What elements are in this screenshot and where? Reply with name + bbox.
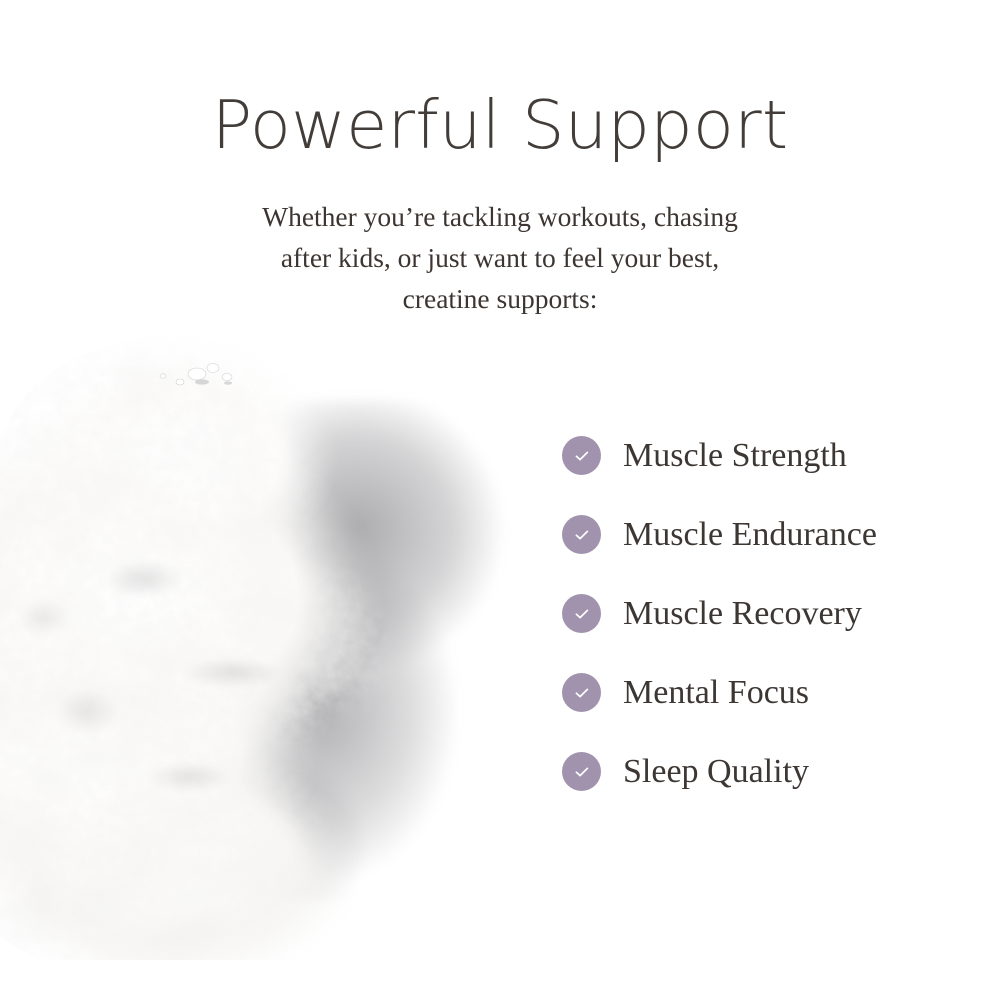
promo-graphic: Powerful Support Whether you’re tackling… [0, 0, 1000, 1000]
subtitle-line-3: creatine supports: [0, 278, 1000, 319]
subtitle-line-1: Whether you’re tackling workouts, chasin… [0, 196, 1000, 237]
benefit-label: Mental Focus [623, 676, 809, 710]
benefit-label: Muscle Strength [623, 439, 847, 473]
benefit-label: Muscle Endurance [623, 518, 877, 552]
benefit-label: Muscle Recovery [623, 597, 862, 631]
check-icon [562, 594, 601, 633]
benefit-item-muscle-recovery: Muscle Recovery [562, 594, 877, 633]
benefit-label: Sleep Quality [623, 755, 809, 789]
subtitle: Whether you’re tackling workouts, chasin… [0, 196, 1000, 319]
benefit-item-sleep-quality: Sleep Quality [562, 752, 877, 791]
creatine-powder-image [0, 330, 540, 970]
benefit-item-muscle-strength: Muscle Strength [562, 436, 877, 475]
check-icon [562, 673, 601, 712]
check-icon [562, 752, 601, 791]
benefit-item-mental-focus: Mental Focus [562, 673, 877, 712]
benefits-list: Muscle Strength Muscle Endurance Muscle … [562, 436, 877, 791]
page-title: Powerful Support [0, 92, 1000, 159]
check-icon [562, 515, 601, 554]
benefit-item-muscle-endurance: Muscle Endurance [562, 515, 877, 554]
check-icon [562, 436, 601, 475]
subtitle-line-2: after kids, or just want to feel your be… [0, 237, 1000, 278]
powder-specks [0, 330, 540, 960]
